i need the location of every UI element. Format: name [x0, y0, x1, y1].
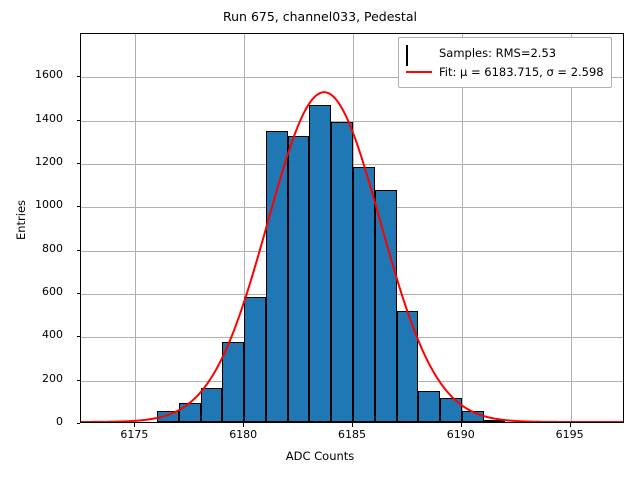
y-axis-tick: [77, 250, 81, 251]
x-axis-tick: [352, 423, 353, 427]
y-axis-tick-label: 1400: [3, 112, 63, 125]
y-axis-tick-label: 800: [3, 242, 63, 255]
legend-label-samples: Samples: RMS=2.53: [439, 46, 556, 60]
figure-canvas: Run 675, channel033, Pedestal 6175618061…: [0, 0, 640, 480]
y-axis-tick-label: 600: [3, 285, 63, 298]
y-axis-label: Entries: [14, 120, 28, 320]
y-axis-tick-label: 1000: [3, 198, 63, 211]
plot-area: [81, 34, 623, 422]
x-axis-label: ADC Counts: [0, 449, 640, 463]
legend-entry-fit: Fit: μ = 6183.715, σ = 2.598: [406, 62, 604, 81]
gaussian-fit-curve: [81, 34, 623, 422]
legend-label-fit: Fit: μ = 6183.715, σ = 2.598: [439, 65, 604, 79]
y-axis-tick-label: 0: [3, 415, 63, 428]
y-axis-tick-label: 400: [3, 328, 63, 341]
x-axis-tick: [461, 423, 462, 427]
chart-title: Run 675, channel033, Pedestal: [0, 9, 640, 24]
x-axis-tick-label: 6175: [104, 428, 164, 441]
y-axis-tick-label: 1600: [3, 68, 63, 81]
legend-entry-samples: Samples: RMS=2.53: [406, 43, 604, 62]
y-axis-tick: [77, 206, 81, 207]
x-axis-tick-label: 6190: [431, 428, 491, 441]
x-axis-tick-label: 6195: [540, 428, 600, 441]
x-axis-tick: [134, 423, 135, 427]
y-axis-tick-label: 200: [3, 372, 63, 385]
legend: Samples: RMS=2.53 Fit: μ = 6183.715, σ =…: [398, 37, 612, 88]
legend-patch-icon: [406, 46, 432, 60]
y-axis-tick: [77, 423, 81, 424]
legend-line-icon: [406, 65, 432, 79]
y-axis-tick: [77, 76, 81, 77]
x-axis-tick: [570, 423, 571, 427]
y-axis-tick: [77, 120, 81, 121]
y-axis-tick: [77, 163, 81, 164]
y-axis-tick: [77, 336, 81, 337]
x-axis-tick: [243, 423, 244, 427]
y-axis-tick-label: 1200: [3, 155, 63, 168]
x-axis-tick-label: 6180: [213, 428, 273, 441]
y-axis-tick: [77, 293, 81, 294]
y-axis-tick: [77, 380, 81, 381]
x-axis-tick-label: 6185: [322, 428, 382, 441]
plot-axes: [80, 33, 624, 423]
